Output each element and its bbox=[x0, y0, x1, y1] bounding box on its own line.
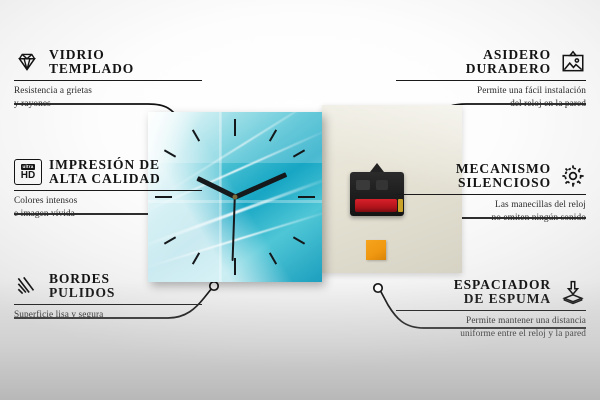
feature-title-line1: ESPACIADOR bbox=[454, 278, 551, 292]
feature-desc-line1: Permite mantener una distancia bbox=[386, 315, 586, 328]
feature-description: Permite una fácil instalación del reloj … bbox=[386, 85, 586, 111]
arrow-down-pad-icon bbox=[560, 279, 586, 305]
feature-vidrio-templado: VIDRIO TEMPLADO Resistencia a grietas y … bbox=[14, 48, 214, 112]
feature-title-line1: MECANISMO bbox=[456, 162, 551, 176]
diamond-icon bbox=[14, 49, 40, 75]
feature-divider bbox=[396, 310, 586, 312]
feature-impresion-alta-calidad: ultra HD IMPRESIÓN DE ALTA CALIDAD Color… bbox=[14, 158, 214, 222]
clock-center-cap bbox=[233, 195, 238, 200]
hd-badge-large-text: HD bbox=[21, 171, 35, 181]
feature-description: Superficie lisa y segura bbox=[14, 309, 214, 322]
feature-espaciador-de-espuma: ESPACIADOR DE ESPUMA Permite mantener un… bbox=[386, 278, 586, 342]
feature-title-line1: BORDES bbox=[49, 272, 115, 286]
clock-tick bbox=[234, 119, 236, 136]
feature-divider bbox=[14, 190, 202, 192]
feature-desc-line1: Resistencia a grietas bbox=[14, 85, 214, 98]
movement-shaft bbox=[370, 163, 384, 172]
hd-badge-small-text: ultra bbox=[21, 164, 36, 170]
feature-title-line2: TEMPLADO bbox=[49, 62, 134, 76]
feature-desc-line2: del reloj en la pared bbox=[386, 98, 586, 111]
feature-desc-line2: e imagen vívida bbox=[14, 208, 214, 221]
feature-description: Permite mantener una distancia uniforme … bbox=[386, 315, 586, 341]
gear-icon bbox=[560, 163, 586, 189]
second-hand bbox=[232, 197, 236, 261]
feature-desc-line1: Colores intensos bbox=[14, 195, 214, 208]
feature-divider bbox=[396, 80, 586, 82]
feature-divider bbox=[396, 194, 586, 196]
feature-title-line2: DE ESPUMA bbox=[464, 292, 551, 306]
picture-frame-hanger-icon bbox=[560, 49, 586, 75]
feature-desc-line2: uniforme entre el reloj y la pared bbox=[386, 328, 586, 341]
feature-title-line2: SILENCIOSO bbox=[458, 176, 551, 190]
ultra-hd-icon: ultra HD bbox=[14, 159, 40, 185]
movement-slot-left bbox=[356, 180, 370, 190]
feature-mecanismo-silencioso: MECANISMO SILENCIOSO Las manecillas del … bbox=[386, 162, 586, 226]
clock-tick bbox=[298, 196, 315, 198]
feature-divider bbox=[14, 304, 202, 306]
feature-title-line1: IMPRESIÓN DE bbox=[49, 158, 161, 172]
feature-desc-line2: no emiten ningún sonido bbox=[386, 212, 586, 225]
polished-edges-icon bbox=[14, 273, 40, 299]
feature-title-line2: ALTA CALIDAD bbox=[49, 172, 161, 186]
feature-desc-line2: y rayones bbox=[14, 98, 214, 111]
feature-description: Las manecillas del reloj no emiten ningú… bbox=[386, 199, 586, 225]
foam-spacer bbox=[366, 240, 386, 260]
feature-title-line2: DURADERO bbox=[466, 62, 551, 76]
feature-description: Colores intensos e imagen vívida bbox=[14, 195, 214, 221]
clock-tick bbox=[268, 252, 276, 264]
infographic-canvas: VIDRIO TEMPLADO Resistencia a grietas y … bbox=[0, 0, 600, 400]
clock-tick bbox=[292, 236, 304, 244]
feature-desc-line1: Las manecillas del reloj bbox=[386, 199, 586, 212]
feature-title-line1: VIDRIO bbox=[49, 48, 134, 62]
feature-desc-line1: Permite una fácil instalación bbox=[386, 85, 586, 98]
feature-bordes-pulidos: BORDES PULIDOS Superficie lisa y segura bbox=[14, 272, 214, 322]
feature-title-line1: ASIDERO bbox=[483, 48, 551, 62]
feature-desc-line1: Superficie lisa y segura bbox=[14, 309, 214, 322]
feature-asidero-duradero: ASIDERO DURADERO Permite una fácil insta… bbox=[386, 48, 586, 112]
feature-divider bbox=[14, 80, 202, 82]
connector-node-espaciador bbox=[374, 284, 382, 292]
clock-tick bbox=[234, 258, 236, 275]
feature-title-line2: PULIDOS bbox=[49, 286, 115, 300]
feature-description: Resistencia a grietas y rayones bbox=[14, 85, 214, 111]
